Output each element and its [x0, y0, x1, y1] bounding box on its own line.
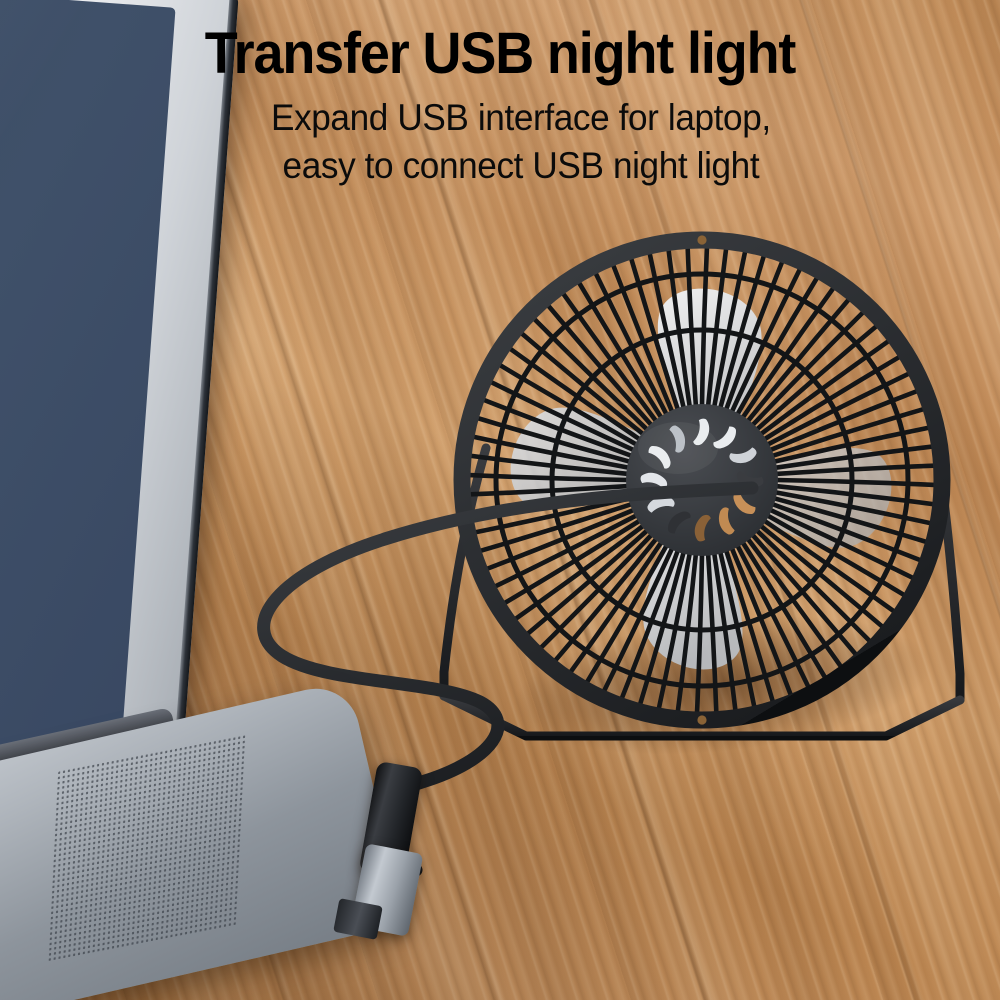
- laptop-keyboard: nsed F11 gr F12 ⏏ + = Nunc a delete: [0, 758, 87, 1000]
- product-marketing-image: Sharing Nullam eu tempor purus. Nunc a l…: [0, 0, 1000, 1000]
- fan-top-screw: [697, 235, 706, 244]
- usb-connector-assembly: [330, 752, 490, 932]
